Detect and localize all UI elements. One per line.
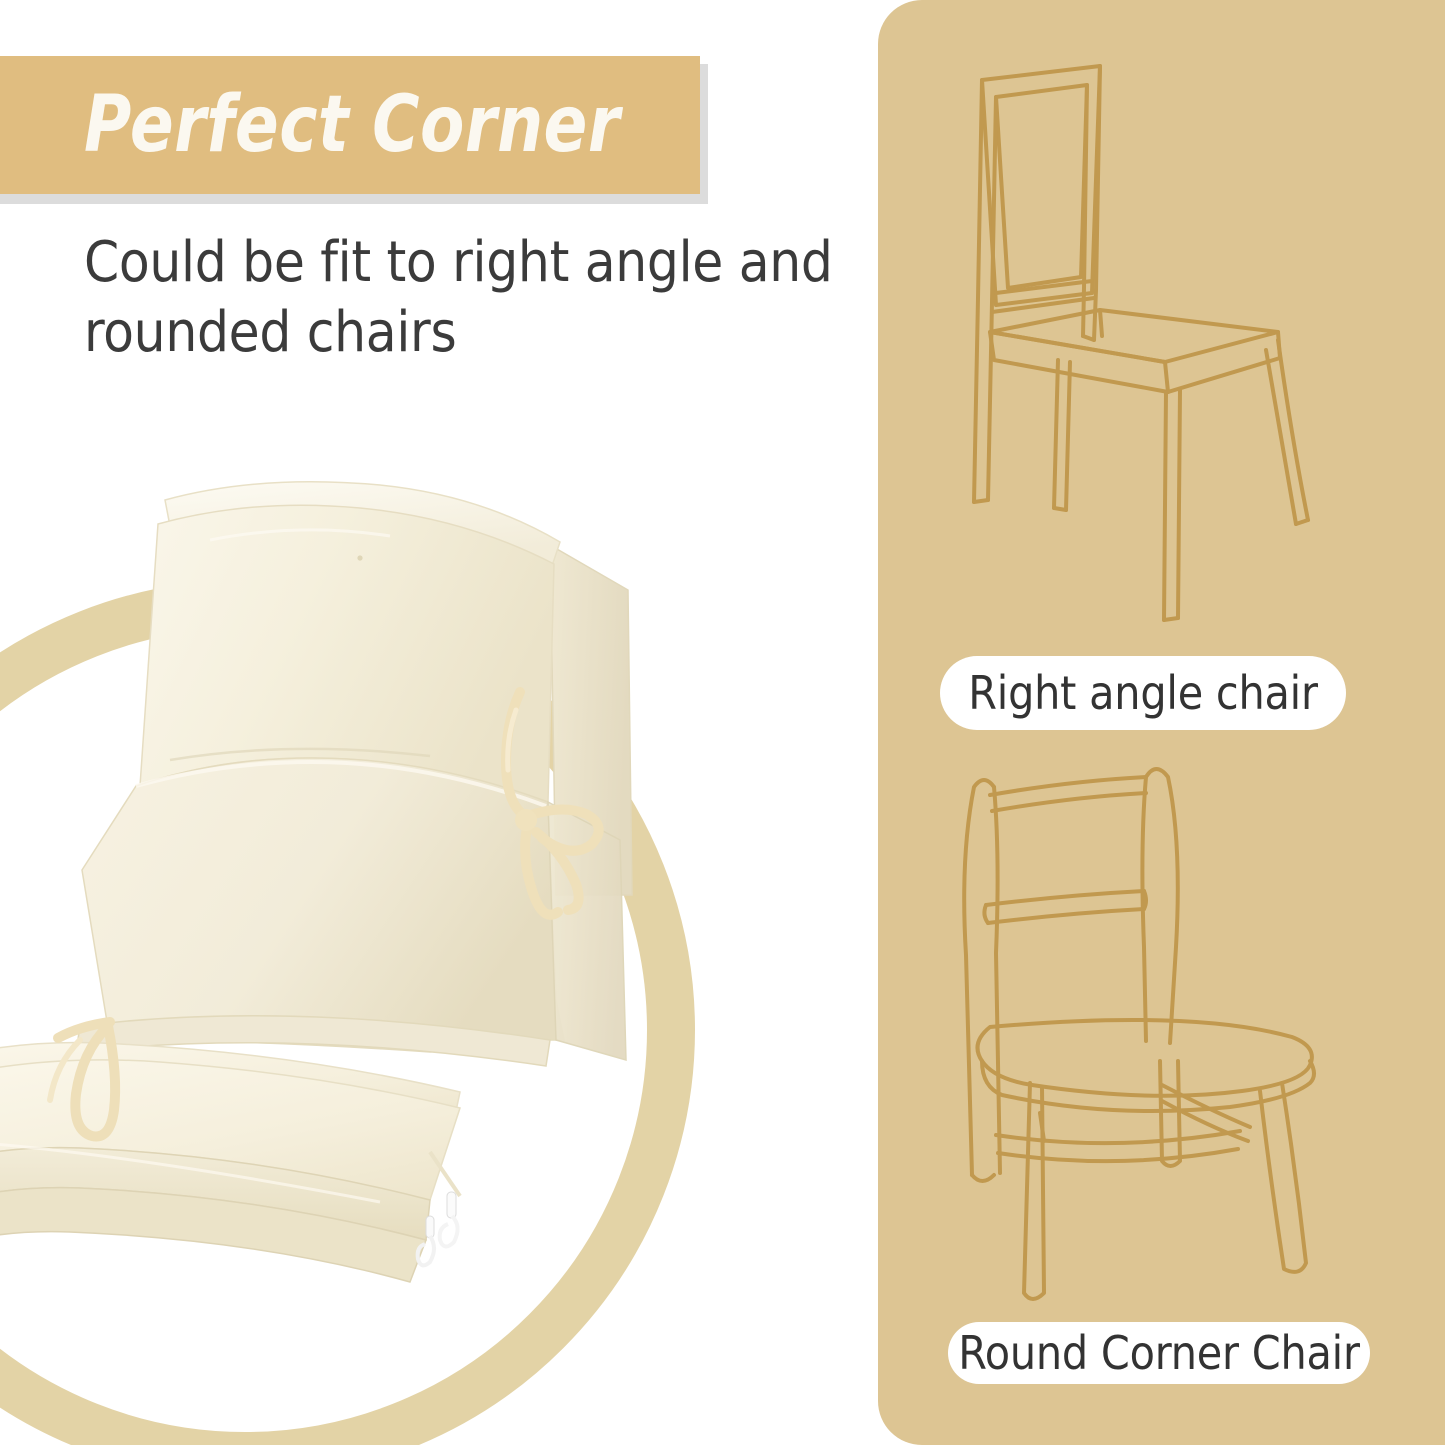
right-angle-chair-illustration xyxy=(878,40,1445,640)
subtitle-text: Could be fit to right angle and rounded … xyxy=(84,228,844,368)
chair-type-panel: Right angle chair xyxy=(878,0,1445,1445)
label-right-angle-chair-text: Right angle chair xyxy=(968,666,1318,720)
page-title: Perfect Corner xyxy=(84,86,620,164)
product-photo-chair-cushion xyxy=(0,440,700,1340)
label-round-corner-chair: Round Corner Chair xyxy=(948,1322,1370,1384)
label-right-angle-chair: Right angle chair xyxy=(940,656,1346,730)
header-banner: Perfect Corner xyxy=(0,56,700,194)
label-round-corner-chair-text: Round Corner Chair xyxy=(958,1326,1360,1380)
round-corner-chair-illustration xyxy=(878,735,1445,1315)
infographic-canvas: Perfect Corner Could be fit to right ang… xyxy=(0,0,1445,1445)
